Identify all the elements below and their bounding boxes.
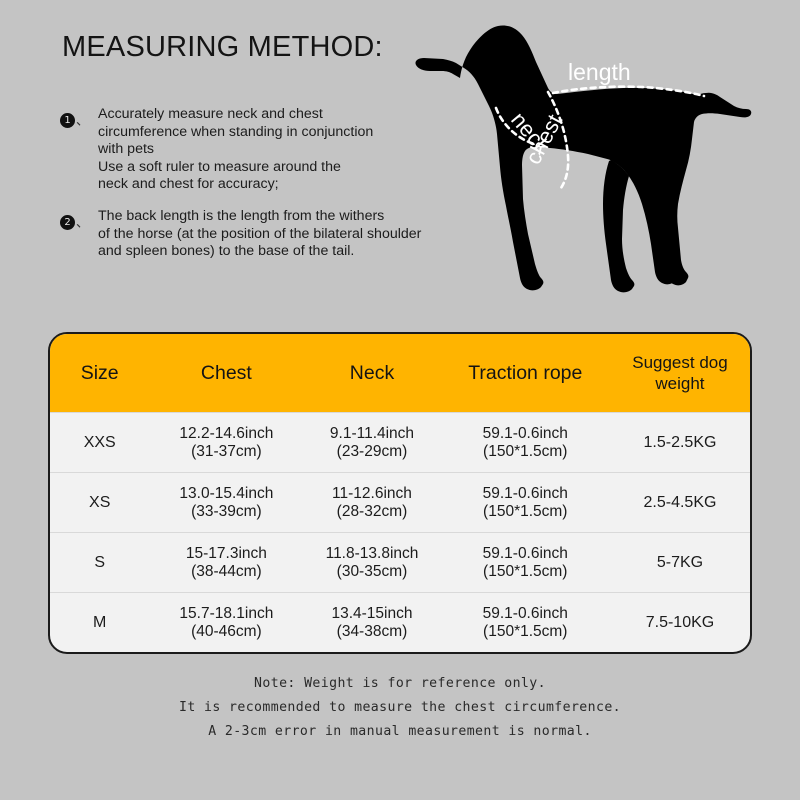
- rope-cm: (150*1.5cm): [441, 623, 610, 641]
- column-header-traction-rope: Traction rope: [441, 362, 610, 385]
- chest-inch: 15.7-18.1inch: [149, 605, 303, 623]
- neck-cm: (28-32cm): [303, 503, 440, 521]
- rope-cm: (150*1.5cm): [441, 563, 610, 581]
- chest-inch: 13.0-15.4inch: [149, 485, 303, 503]
- number-badge-icon: 2: [60, 215, 75, 230]
- list-marker: 1 、: [60, 106, 89, 128]
- cell-weight: 5-7KG: [610, 554, 750, 572]
- neck-inch: 13.4-15inch: [303, 605, 440, 623]
- neck-cm: (34-38cm): [303, 623, 440, 641]
- cell-weight: 7.5-10KG: [610, 614, 750, 632]
- instruction-line: of the horse (at the position of the bil…: [98, 226, 421, 244]
- footer-line-2: It is recommended to measure the chest c…: [0, 696, 800, 720]
- cell-chest: 15.7-18.1inch (40-46cm): [149, 605, 303, 641]
- list-item-text: The back length is the length from the w…: [98, 208, 421, 261]
- marker-comma: 、: [76, 212, 89, 231]
- cell-weight: 2.5-4.5KG: [610, 494, 750, 512]
- weight-header-line2: weight: [610, 373, 750, 394]
- size-chart-table: Size Chest Neck Traction rope Suggest do…: [48, 332, 752, 654]
- chest-cm: (33-39cm): [149, 503, 303, 521]
- instruction-line: with pets: [98, 141, 373, 159]
- instruction-line: circumference when standing in conjuncti…: [98, 124, 373, 142]
- instruction-line: neck and chest for accuracy;: [98, 176, 373, 194]
- rope-inch: 59.1-0.6inch: [441, 545, 610, 563]
- list-item-text: Accurately measure neck and chest circum…: [98, 106, 373, 194]
- table-row: XS 13.0-15.4inch (33-39cm) 11-12.6inch (…: [50, 472, 750, 532]
- footer-line-3: A 2-3cm error in manual measurement is n…: [0, 720, 800, 744]
- cell-weight: 1.5-2.5KG: [610, 434, 750, 452]
- table-row: XXS 12.2-14.6inch (31-37cm) 9.1-11.4inch…: [50, 412, 750, 472]
- cell-neck: 13.4-15inch (34-38cm): [303, 605, 440, 641]
- chest-cm: (38-44cm): [149, 563, 303, 581]
- dog-measurement-diagram: neck chest length: [398, 14, 798, 324]
- column-header-size: Size: [50, 362, 149, 385]
- rope-inch: 59.1-0.6inch: [441, 425, 610, 443]
- rope-cm: (150*1.5cm): [441, 503, 610, 521]
- cell-traction-rope: 59.1-0.6inch (150*1.5cm): [441, 485, 610, 521]
- chest-inch: 15-17.3inch: [149, 545, 303, 563]
- chest-inch: 12.2-14.6inch: [149, 425, 303, 443]
- length-label: length: [568, 59, 631, 85]
- footer-note: Note: Weight is for reference only. It i…: [0, 672, 800, 744]
- neck-cm: (23-29cm): [303, 443, 440, 461]
- cell-size: M: [50, 614, 149, 632]
- neck-inch: 9.1-11.4inch: [303, 425, 440, 443]
- table-row: S 15-17.3inch (38-44cm) 11.8-13.8inch (3…: [50, 532, 750, 592]
- cell-traction-rope: 59.1-0.6inch (150*1.5cm): [441, 425, 610, 461]
- rope-inch: 59.1-0.6inch: [441, 605, 610, 623]
- number-badge-icon: 1: [60, 113, 75, 128]
- cell-traction-rope: 59.1-0.6inch (150*1.5cm): [441, 605, 610, 641]
- neck-cm: (30-35cm): [303, 563, 440, 581]
- chest-cm: (31-37cm): [149, 443, 303, 461]
- cell-neck: 9.1-11.4inch (23-29cm): [303, 425, 440, 461]
- cell-size: XS: [50, 494, 149, 512]
- instruction-line: Use a soft ruler to measure around the: [98, 159, 373, 177]
- instruction-line: The back length is the length from the w…: [98, 208, 421, 226]
- table-row: M 15.7-18.1inch (40-46cm) 13.4-15inch (3…: [50, 592, 750, 652]
- rope-inch: 59.1-0.6inch: [441, 485, 610, 503]
- chest-cm: (40-46cm): [149, 623, 303, 641]
- neck-inch: 11.8-13.8inch: [303, 545, 440, 563]
- footer-line-1: Note: Weight is for reference only.: [0, 672, 800, 696]
- column-header-chest: Chest: [149, 362, 303, 385]
- instruction-line: and spleen bones) to the base of the tai…: [98, 243, 421, 261]
- cell-neck: 11-12.6inch (28-32cm): [303, 485, 440, 521]
- rope-cm: (150*1.5cm): [441, 443, 610, 461]
- list-marker: 2 、: [60, 208, 89, 230]
- cell-chest: 13.0-15.4inch (33-39cm): [149, 485, 303, 521]
- cell-traction-rope: 59.1-0.6inch (150*1.5cm): [441, 545, 610, 581]
- weight-header-line1: Suggest dog: [610, 352, 750, 373]
- table-header-row: Size Chest Neck Traction rope Suggest do…: [50, 334, 750, 412]
- instruction-line: Accurately measure neck and chest: [98, 106, 373, 124]
- cell-size: S: [50, 554, 149, 572]
- column-header-suggest-dog-weight: Suggest dog weight: [610, 352, 750, 394]
- column-header-neck: Neck: [303, 362, 440, 385]
- cell-size: XXS: [50, 434, 149, 452]
- cell-chest: 12.2-14.6inch (31-37cm): [149, 425, 303, 461]
- cell-chest: 15-17.3inch (38-44cm): [149, 545, 303, 581]
- marker-comma: 、: [76, 110, 89, 129]
- page-title: MEASURING METHOD:: [62, 31, 383, 64]
- cell-neck: 11.8-13.8inch (30-35cm): [303, 545, 440, 581]
- neck-inch: 11-12.6inch: [303, 485, 440, 503]
